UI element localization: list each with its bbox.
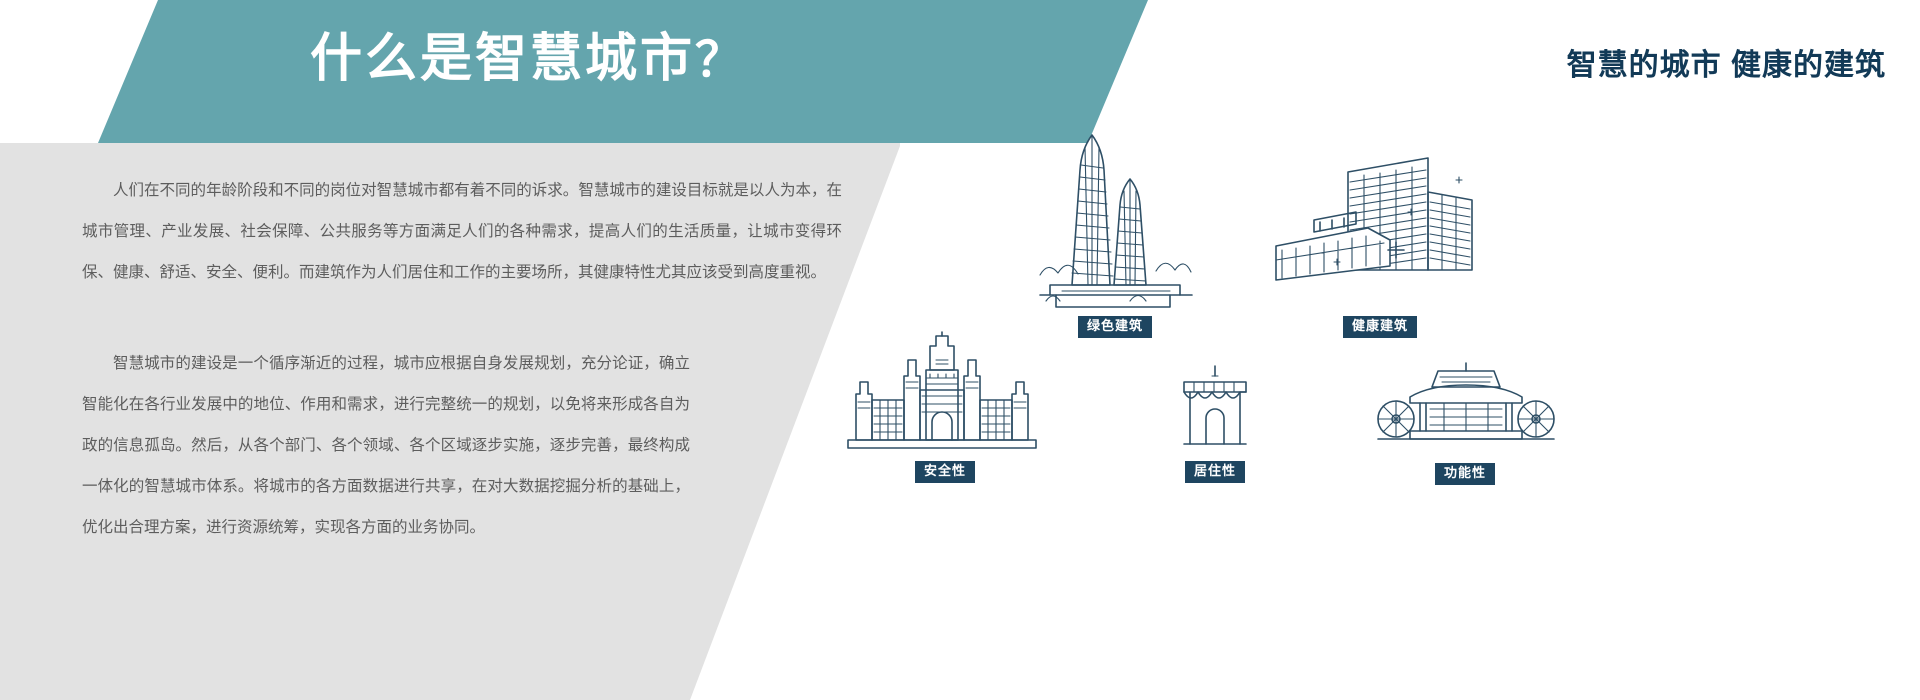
illustration-label: 绿色建筑 [1078,316,1152,338]
illustration-item-security: 安全性 [830,330,1060,483]
twin-towers-icon [1010,95,1220,310]
illustration-group: 绿色建筑 [830,95,1920,615]
slide-canvas: 什么是智慧城市？ 智慧的城市 健康的建筑 人们在不同的年龄阶段和不同的岗位对智慧… [0,0,1920,700]
body-text-container: 人们在不同的年龄阶段和不同的岗位对智慧城市都有着不同的诉求。智慧城市的建设目标就… [82,170,852,548]
illustration-label: 功能性 [1435,463,1495,485]
illustration-label: 居住性 [1185,461,1245,483]
illustration-item-livability: 居住性 [1150,360,1280,483]
page-title: 什么是智慧城市？ [310,31,746,88]
illustration-item-functionality: 功能性 [1370,357,1560,485]
paragraph-2: 智慧城市的建设是一个循序渐近的过程，城市应根据自身发展规划，充分论证，确立智能化… [82,343,690,548]
illustration-label: 健康建筑 [1343,316,1417,338]
page-title-text: 什么是智慧城市 [310,30,695,88]
headline: 智慧的城市 健康的建筑 [1567,40,1886,84]
paragraph-1: 人们在不同的年龄阶段和不同的岗位对智慧城市都有着不同的诉求。智慧城市的建设目标就… [82,170,842,293]
page-title-question-mark: ？ [695,34,746,87]
illustration-label: 安全性 [915,461,975,483]
hospital-building-icon [1260,150,1500,310]
castle-icon [830,330,1060,455]
illustration-item-healthy-building: 健康建筑 [1260,150,1500,338]
illustration-item-green-building: 绿色建筑 [1010,95,1220,338]
pavilion-icon [1370,357,1560,457]
house-shop-icon [1150,360,1280,455]
